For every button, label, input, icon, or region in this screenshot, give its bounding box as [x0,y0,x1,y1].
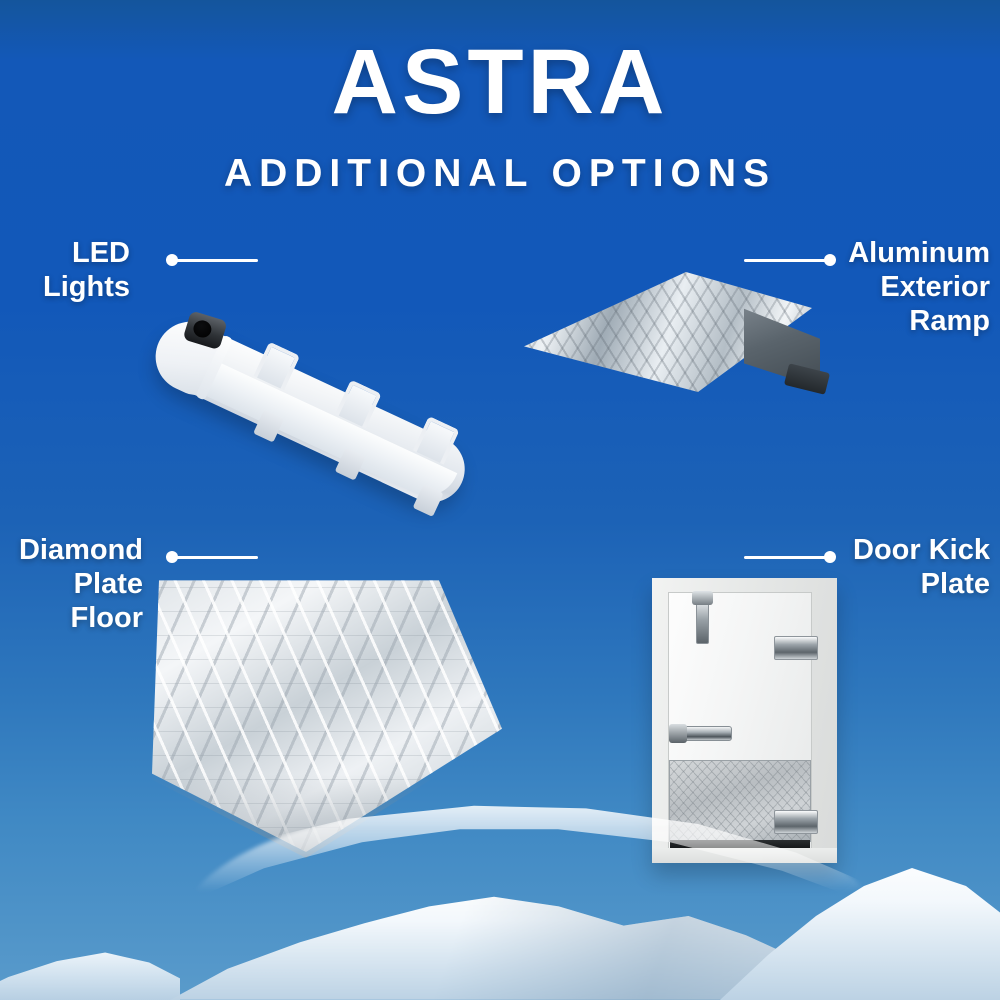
connector-line [176,556,258,559]
product-image-aluminum-exterior-ramp [512,262,852,427]
callout-label-line: Plate [0,567,143,601]
ramp-anchor-tab [784,363,830,395]
poster-canvas: ASTRA ADDITIONAL OPTIONS LED Lights Alum… [0,0,1000,1000]
callout-label-line: LED [0,236,130,270]
callout-label-line: Lights [0,270,130,304]
ice-mountain-graphic [0,800,1000,1000]
callout-label-led-lights: LED Lights [0,236,130,304]
snow-peak-right [720,850,1000,1000]
callout-label-diamond-plate-floor: Diamond Plate Floor [0,533,143,636]
poster-subtitle: ADDITIONAL OPTIONS [0,154,1000,193]
connector-led-lights [166,254,258,266]
callout-label-line: Diamond [0,533,143,567]
snow-peak-left [0,928,180,1000]
door-latch-handle-icon [674,726,732,741]
product-image-led-lights [150,268,520,443]
connector-diamond-plate-floor [166,551,258,563]
door-hinge-top-icon [774,636,818,660]
callout-label-line: Door Kick [810,533,990,567]
door-safety-release-icon [696,600,709,644]
poster-header: ASTRA ADDITIONAL OPTIONS [0,36,1000,193]
led-fixture-body [144,314,476,524]
connector-line [176,259,258,262]
callout-label-line: Floor [0,601,143,635]
brand-title: ASTRA [0,36,1000,128]
